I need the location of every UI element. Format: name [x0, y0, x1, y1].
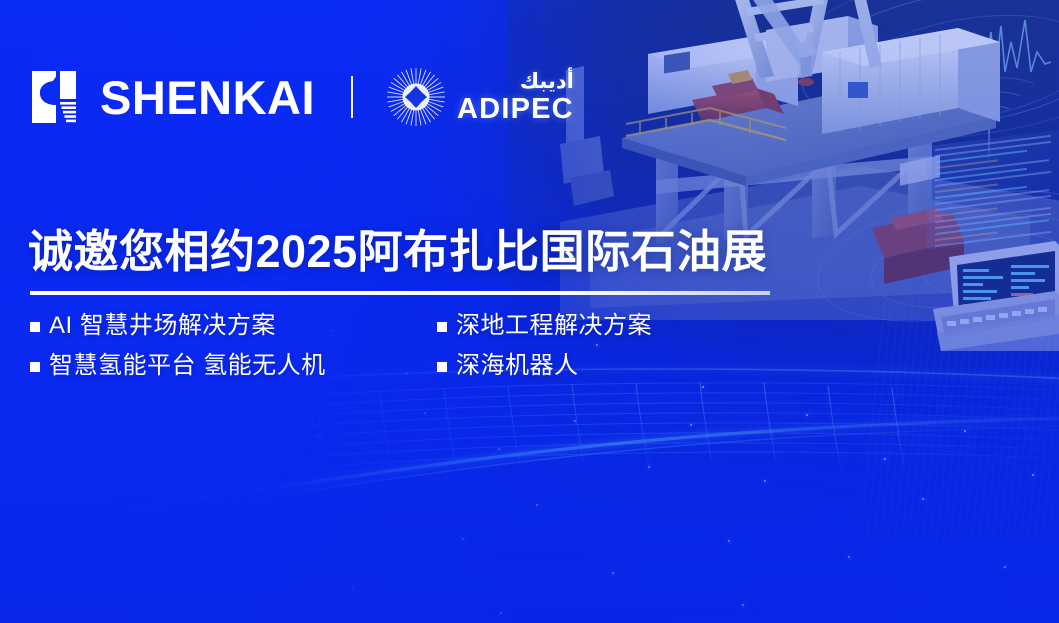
- adipec-2025-promo-banner: SHENKAI: [0, 0, 1059, 623]
- feature-item-deepsea-robot: 深海机器人: [437, 354, 579, 378]
- vertical-divider-icon: [351, 76, 353, 118]
- adipec-text-block: أديبك ADIPEC: [457, 71, 574, 124]
- square-bullet-icon: [30, 362, 40, 372]
- headline-underline: [30, 291, 770, 295]
- adipec-latin-text: ADIPEC: [457, 95, 574, 124]
- square-bullet-icon: [437, 362, 447, 372]
- shenkai-sk-mark-icon: [30, 69, 84, 125]
- feature-item-ai-wellsite: AI 智慧井场解决方案: [30, 314, 437, 338]
- adipec-radial-burst-icon: [385, 66, 447, 128]
- square-bullet-icon: [437, 322, 447, 332]
- feature-item-hydrogen: 智慧氢能平台 氢能无人机: [30, 354, 437, 378]
- feature-item-deep-earth: 深地工程解决方案: [437, 314, 652, 338]
- logo-row: SHENKAI: [30, 66, 574, 128]
- list-item: 智慧氢能平台 氢能无人机 深海机器人: [30, 354, 750, 394]
- list-item: AI 智慧井场解决方案 深地工程解决方案: [30, 314, 750, 354]
- adipec-arabic-text: أديبك: [457, 71, 574, 92]
- square-bullet-icon: [30, 322, 40, 332]
- feature-list: AI 智慧井场解决方案 深地工程解决方案 智慧氢能平台 氢能无人机 深海机器人: [30, 314, 750, 394]
- adipec-logo: أديبك ADIPEC: [385, 66, 574, 128]
- banner-content: SHENKAI: [0, 0, 1059, 623]
- page-title: 诚邀您相约2025阿布扎比国际石油展: [28, 228, 767, 275]
- shenkai-wordmark: SHENKAI: [100, 74, 315, 121]
